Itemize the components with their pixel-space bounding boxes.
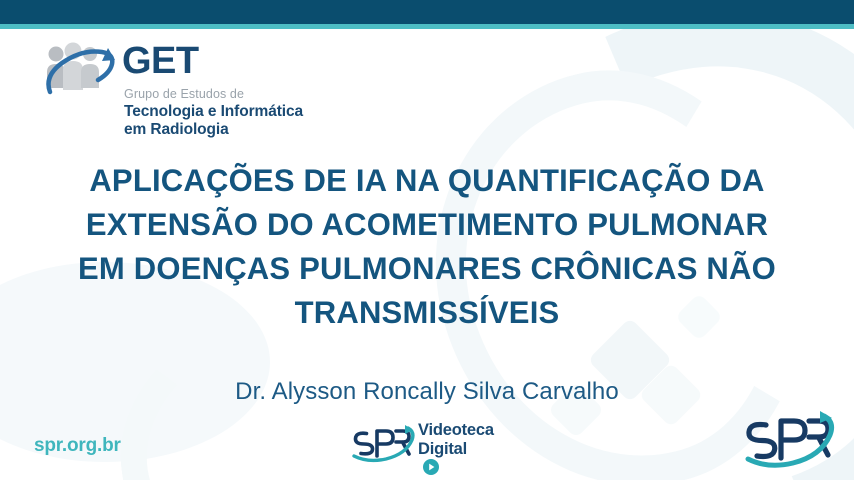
title-line-3: EM DOENÇAS PULMONARES CRÔNICAS NÃO bbox=[6, 246, 847, 290]
play-circle-icon[interactable] bbox=[423, 459, 439, 475]
get-wordmark: GET bbox=[122, 42, 199, 80]
videoteca-digital-logo: Videoteca Digital bbox=[346, 418, 526, 468]
spr-logo-mark-icon bbox=[346, 423, 420, 463]
videoteca-digital-text: Videoteca Digital bbox=[418, 421, 494, 475]
slide-title: APLICAÇÕES DE IA NA QUANTIFICAÇÃO DA EXT… bbox=[0, 158, 854, 334]
title-line-1: APLICAÇÕES DE IA NA QUANTIFICAÇÃO DA bbox=[6, 158, 847, 202]
get-subtitle-main: Tecnologia e Informática em Radiologia bbox=[124, 103, 303, 140]
get-subtitle-small: Grupo de Estudos de bbox=[124, 88, 244, 102]
get-subtitle-line2: em Radiologia bbox=[124, 121, 303, 139]
presenter-name: Dr. Alysson Roncally Silva Carvalho bbox=[0, 378, 854, 406]
spr-logo bbox=[736, 408, 842, 470]
videoteca-line2: Digital bbox=[418, 440, 494, 459]
top-bar-accent-line bbox=[0, 24, 854, 29]
get-logo: GET Grupo de Estudos de Tecnologia e Inf… bbox=[42, 40, 322, 144]
get-people-swoosh-mark-icon bbox=[42, 40, 120, 102]
title-line-2: EXTENSÃO DO ACOMETIMENTO PULMONAR bbox=[6, 202, 847, 246]
videoteca-line2-row: Digital bbox=[418, 440, 494, 475]
title-line-4: TRANSMISSÍVEIS bbox=[6, 290, 847, 334]
get-subtitle-line1: Tecnologia e Informática bbox=[124, 103, 303, 121]
site-url[interactable]: spr.org.br bbox=[34, 435, 121, 457]
videoteca-line1: Videoteca bbox=[418, 421, 494, 440]
top-bar bbox=[0, 0, 854, 24]
presentation-slide: GET Grupo de Estudos de Tecnologia e Inf… bbox=[0, 0, 854, 480]
